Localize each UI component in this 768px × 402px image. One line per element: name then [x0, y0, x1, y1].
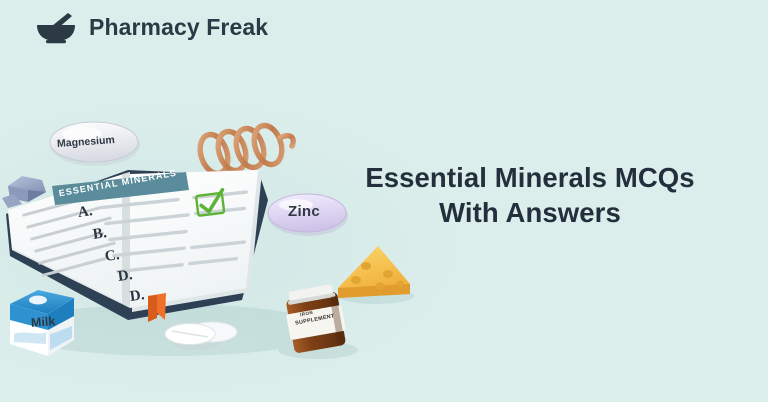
copper-coil-icon: [195, 122, 293, 177]
book-option-b: B.: [92, 225, 108, 244]
zinc-tablet-icon: [268, 194, 348, 236]
bookmark-ribbon: [148, 293, 166, 322]
banner-stage: Pharmacy Freak Essential Minerals MCQs W…: [0, 0, 768, 402]
book-option-c: C.: [104, 247, 121, 266]
book-option-a: A.: [77, 203, 94, 222]
magnesium-tablet-icon: [50, 122, 140, 166]
book-option-e: D.: [129, 287, 146, 306]
book-option-d: D.: [117, 267, 134, 286]
cheese-wedge-icon: [338, 246, 410, 298]
minerals-illustration: [0, 0, 440, 402]
